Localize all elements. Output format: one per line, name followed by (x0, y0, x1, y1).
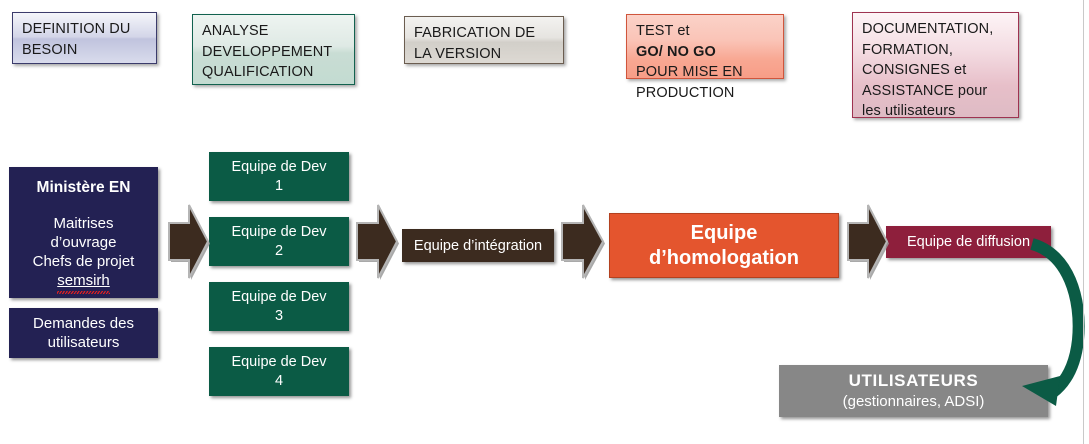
demandes-line-1: Demandes des (33, 314, 134, 334)
page-edge-rule (1083, 0, 1084, 444)
phase-box-test[interactable]: TEST et GO/ NO GO POUR MISE EN PRODUCTIO… (626, 14, 784, 79)
dev-team-2-number: 2 (275, 242, 283, 261)
demandes-line-2: utilisateurs (48, 333, 120, 353)
arrow-integration-to-homologation (556, 197, 606, 286)
actor-box-dev-team-4[interactable]: Equipe de Dev 4 (209, 347, 349, 396)
phase-label-documentation: DOCUMENTATION, FORMATION, CONSIGNES et A… (862, 19, 1009, 122)
dev-team-3-label: Equipe de Dev (231, 288, 326, 307)
phase-box-definition[interactable]: DEFINITION DU BESOIN (12, 12, 157, 64)
ministere-misspelled-word: semsirh (57, 272, 110, 291)
ministere-line-4: semsirh (57, 272, 110, 291)
right-arrow-icon (163, 197, 210, 286)
phase-label-fabrication: FABRICATION DE LA VERSION (414, 23, 554, 64)
utilisateurs-title: UTILISATEURS (849, 370, 979, 392)
dev-team-2-label: Equipe de Dev (231, 223, 326, 242)
phase-label-test-suffix: POUR MISE EN PRODUCTION (636, 62, 774, 103)
arrow-homologation-to-diffusion (842, 197, 889, 286)
ministere-title: Ministère EN (37, 178, 131, 198)
ministere-line-2: d’ouvrage (51, 234, 117, 253)
curved-arrow-icon (960, 236, 1089, 416)
dev-team-4-label: Equipe de Dev (231, 353, 326, 372)
dev-team-4-number: 4 (275, 372, 283, 391)
phase-label-test-prefix: TEST et (636, 21, 774, 42)
phase-box-analyse[interactable]: ANALYSE DEVELOPPEMENT QUALIFICATION (192, 14, 355, 85)
right-arrow-icon (556, 197, 606, 286)
integration-label: Equipe d’intégration (414, 238, 542, 254)
phase-label-test-emphasis: GO/ NO GO (636, 44, 716, 60)
phase-label-analyse: ANALYSE DEVELOPPEMENT QUALIFICATION (202, 21, 345, 83)
ministere-line-3: Chefs de projet (33, 253, 135, 272)
homologation-line-2: d’homologation (649, 246, 799, 270)
arrow-diffusion-to-utilisateurs (960, 236, 1089, 416)
actor-box-demandes[interactable]: Demandes des utilisateurs (9, 308, 158, 358)
dev-team-1-label: Equipe de Dev (231, 158, 326, 177)
actor-box-integration[interactable]: Equipe d’intégration (402, 229, 554, 262)
right-arrow-icon (351, 197, 400, 286)
arrow-ministere-to-dev (163, 197, 210, 286)
ministere-line-1: Maitrises (53, 215, 113, 234)
actor-box-dev-team-2[interactable]: Equipe de Dev 2 (209, 217, 349, 266)
dev-team-3-number: 3 (275, 307, 283, 326)
phase-label-test: TEST et GO/ NO GO POUR MISE EN PRODUCTIO… (636, 21, 774, 103)
diagram-canvas: DEFINITION DU BESOIN ANALYSE DEVELOPPEME… (0, 0, 1089, 444)
actor-box-homologation[interactable]: Equipe d’homologation (609, 213, 839, 278)
actor-box-ministere[interactable]: Ministère EN Maitrises d’ouvrage Chefs d… (9, 167, 158, 298)
arrow-dev-to-integration (351, 197, 400, 286)
dev-team-1-number: 1 (275, 177, 283, 196)
phase-box-documentation[interactable]: DOCUMENTATION, FORMATION, CONSIGNES et A… (852, 12, 1019, 118)
actor-box-dev-team-1[interactable]: Equipe de Dev 1 (209, 152, 349, 201)
phase-label-definition: DEFINITION DU BESOIN (22, 19, 147, 60)
actor-box-dev-team-3[interactable]: Equipe de Dev 3 (209, 282, 349, 331)
homologation-line-1: Equipe (691, 221, 758, 245)
phase-box-fabrication[interactable]: FABRICATION DE LA VERSION (404, 16, 564, 64)
right-arrow-icon (842, 197, 889, 286)
